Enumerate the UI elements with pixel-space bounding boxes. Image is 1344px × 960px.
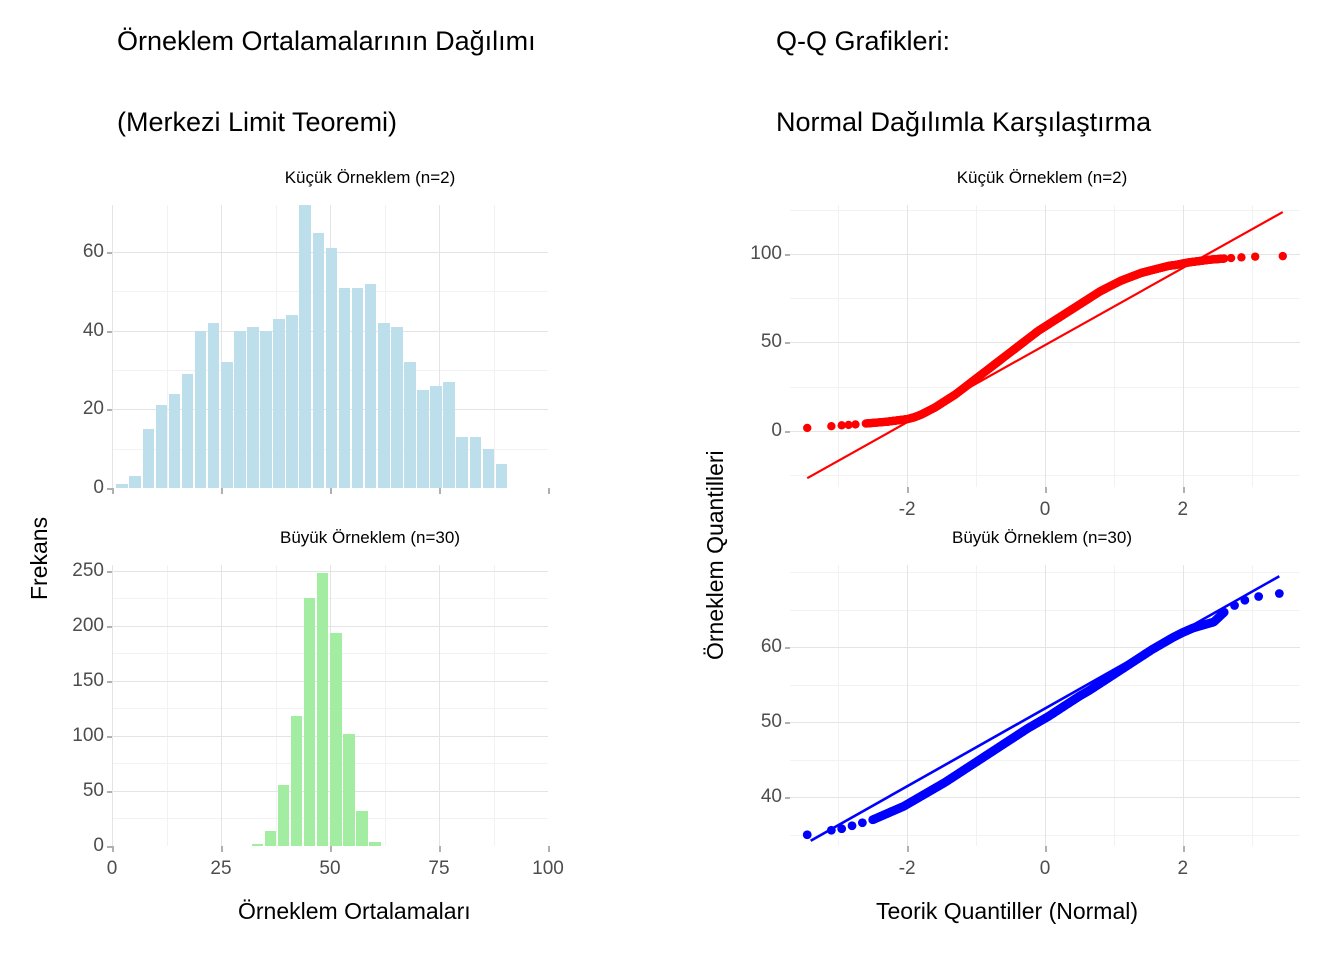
histogram-bar <box>326 248 338 488</box>
y-tick-mark <box>107 252 112 254</box>
histogram-bar <box>116 484 128 488</box>
x-tick-label: 2 <box>1178 499 1189 521</box>
histogram-bar <box>208 323 220 488</box>
right-panel-title-line1: Q-Q Grafikleri: <box>776 26 950 57</box>
histogram-bar <box>247 327 259 488</box>
y-tick-label: 100 <box>60 725 104 747</box>
qq-y-axis-title: Örneklem Quantilleri <box>702 450 729 660</box>
histogram-bar <box>352 288 364 488</box>
qq-point-group <box>803 589 1284 839</box>
histogram-bar <box>195 331 207 488</box>
qq-point-group <box>803 252 1287 432</box>
x-tick-mark <box>1045 846 1047 852</box>
x-tick-label: 0 <box>1040 499 1051 521</box>
x-tick-mark <box>907 487 909 493</box>
plot-area-histogram-small <box>112 205 548 488</box>
x-tick-mark <box>548 846 550 852</box>
histogram-bar <box>496 464 508 488</box>
facet-title-large-qq: Büyük Örneklem (n=30) <box>740 528 1344 548</box>
x-tick-label: 0 <box>107 858 118 880</box>
plot-area-qq-small <box>790 205 1300 487</box>
y-tick-mark <box>785 254 790 256</box>
histogram-bar <box>304 598 316 846</box>
x-tick-mark <box>112 488 114 494</box>
x-tick-label: 100 <box>532 858 564 880</box>
facet-title-small-hist: Küçük Örneklem (n=2) <box>60 168 680 188</box>
gridline-minor <box>494 205 495 488</box>
qq-reference-line <box>811 576 1280 841</box>
y-tick-mark <box>107 331 112 333</box>
histogram-bar <box>182 374 194 488</box>
histogram-bar <box>483 449 495 488</box>
histogram-bar <box>365 284 377 488</box>
x-tick-mark <box>1183 487 1185 493</box>
histogram-bar <box>430 386 442 488</box>
histogram-bar <box>330 633 342 846</box>
histogram-bar <box>286 315 298 488</box>
y-tick-label: 20 <box>60 398 104 420</box>
histogram-bar <box>313 233 325 488</box>
plot-area-qq-large <box>790 565 1300 846</box>
gridline-minor <box>494 565 495 846</box>
histogram-bar <box>299 205 311 488</box>
left-panel-title-line1: Örneklem Ortalamalarının Dağılımı <box>117 26 536 57</box>
y-tick-label: 40 <box>738 786 782 808</box>
qq-scatter-layer <box>790 565 1300 846</box>
histogram-bar <box>378 323 390 488</box>
histogram-bar <box>343 734 355 846</box>
y-tick-mark <box>107 791 112 793</box>
y-tick-mark <box>107 571 112 573</box>
gridline-major <box>112 565 113 846</box>
histogram-bar <box>278 785 290 846</box>
histogram-bar <box>221 362 233 488</box>
histogram-bar <box>369 842 381 846</box>
y-tick-mark <box>785 647 790 649</box>
y-tick-mark <box>785 431 790 433</box>
gridline-minor <box>167 565 168 846</box>
panel-histogram-large-sample: Büyük Örneklem (n=30) <box>60 520 680 860</box>
y-tick-label: 40 <box>60 320 104 342</box>
x-tick-mark <box>439 846 441 852</box>
gridline-major <box>439 565 440 846</box>
gridline-major <box>221 565 222 846</box>
gridline-major <box>112 205 113 488</box>
x-tick-label: 25 <box>210 858 231 880</box>
y-tick-mark <box>107 409 112 411</box>
plot-area-histogram-large <box>112 565 548 846</box>
y-tick-label: 0 <box>738 420 782 442</box>
histogram-bar <box>404 362 416 488</box>
histogram-bar <box>260 331 272 488</box>
x-tick-label: 0 <box>1040 858 1051 880</box>
y-tick-mark <box>785 342 790 344</box>
facet-title-small-qq: Küçük Örneklem (n=2) <box>740 168 1344 188</box>
y-tick-label: 0 <box>60 835 104 857</box>
y-tick-mark <box>785 797 790 799</box>
histogram-bar <box>470 437 482 488</box>
right-panel-title-line2: Normal Dağılımla Karşılaştırma <box>776 107 1151 138</box>
y-tick-label: 200 <box>60 615 104 637</box>
y-tick-label: 0 <box>60 477 104 499</box>
histogram-bar <box>156 405 168 488</box>
x-tick-mark <box>112 846 114 852</box>
histogram-bar <box>317 573 329 846</box>
x-tick-mark <box>330 488 332 494</box>
histogram-bar <box>143 429 155 488</box>
y-tick-label: 60 <box>738 636 782 658</box>
y-tick-mark <box>107 681 112 683</box>
x-tick-mark <box>221 488 223 494</box>
x-tick-mark <box>1045 487 1047 493</box>
histogram-bar <box>234 331 246 488</box>
x-tick-mark <box>439 488 441 494</box>
histogram-bar <box>356 811 368 846</box>
histogram-bar <box>417 390 429 488</box>
y-tick-label: 250 <box>60 560 104 582</box>
histogram-bar <box>129 476 141 488</box>
left-panel-title-line2: (Merkezi Limit Teoremi) <box>117 107 397 138</box>
y-tick-label: 150 <box>60 670 104 692</box>
y-tick-mark <box>107 626 112 628</box>
x-tick-mark <box>1183 846 1185 852</box>
gridline-minor <box>385 565 386 846</box>
x-tick-mark <box>330 846 332 852</box>
y-tick-label: 50 <box>738 331 782 353</box>
y-tick-label: 100 <box>738 243 782 265</box>
histogram-bar <box>252 844 264 846</box>
figure-root: Örneklem Ortalamalarının Dağılımı (Merke… <box>0 0 1344 960</box>
x-tick-mark <box>221 846 223 852</box>
histogram-y-axis-title: Frekans <box>26 517 53 600</box>
panel-qq-large-sample: Büyük Örneklem (n=30) <box>740 520 1344 860</box>
histogram-bar <box>265 831 277 846</box>
histogram-bar <box>339 288 351 488</box>
x-tick-mark <box>907 846 909 852</box>
x-tick-mark <box>548 488 550 494</box>
y-tick-mark <box>107 736 112 738</box>
histogram-bar <box>273 319 285 488</box>
x-tick-label: 75 <box>428 858 449 880</box>
x-tick-label: 2 <box>1178 858 1189 880</box>
histogram-bar <box>391 327 403 488</box>
histogram-bar <box>291 716 303 846</box>
x-tick-label: -2 <box>899 858 916 880</box>
qq-reference-line <box>807 212 1283 478</box>
y-tick-label: 60 <box>60 241 104 263</box>
qq-scatter-layer <box>790 205 1300 487</box>
x-tick-label: -2 <box>899 499 916 521</box>
histogram-bar <box>456 437 468 488</box>
histogram-bar <box>169 394 181 488</box>
y-tick-label: 50 <box>738 711 782 733</box>
facet-title-large-hist: Büyük Örneklem (n=30) <box>60 528 680 548</box>
y-tick-mark <box>785 722 790 724</box>
panel-histogram-small-sample: Küçük Örneklem (n=2) <box>60 160 680 520</box>
histogram-x-axis-title: Örneklem Ortalamaları <box>238 898 471 925</box>
histogram-bar <box>443 382 455 488</box>
y-tick-label: 50 <box>60 780 104 802</box>
x-tick-label: 50 <box>319 858 340 880</box>
qq-x-axis-title: Teorik Quantiller (Normal) <box>876 898 1138 925</box>
panel-qq-small-sample: Küçük Örneklem (n=2) <box>740 160 1344 520</box>
